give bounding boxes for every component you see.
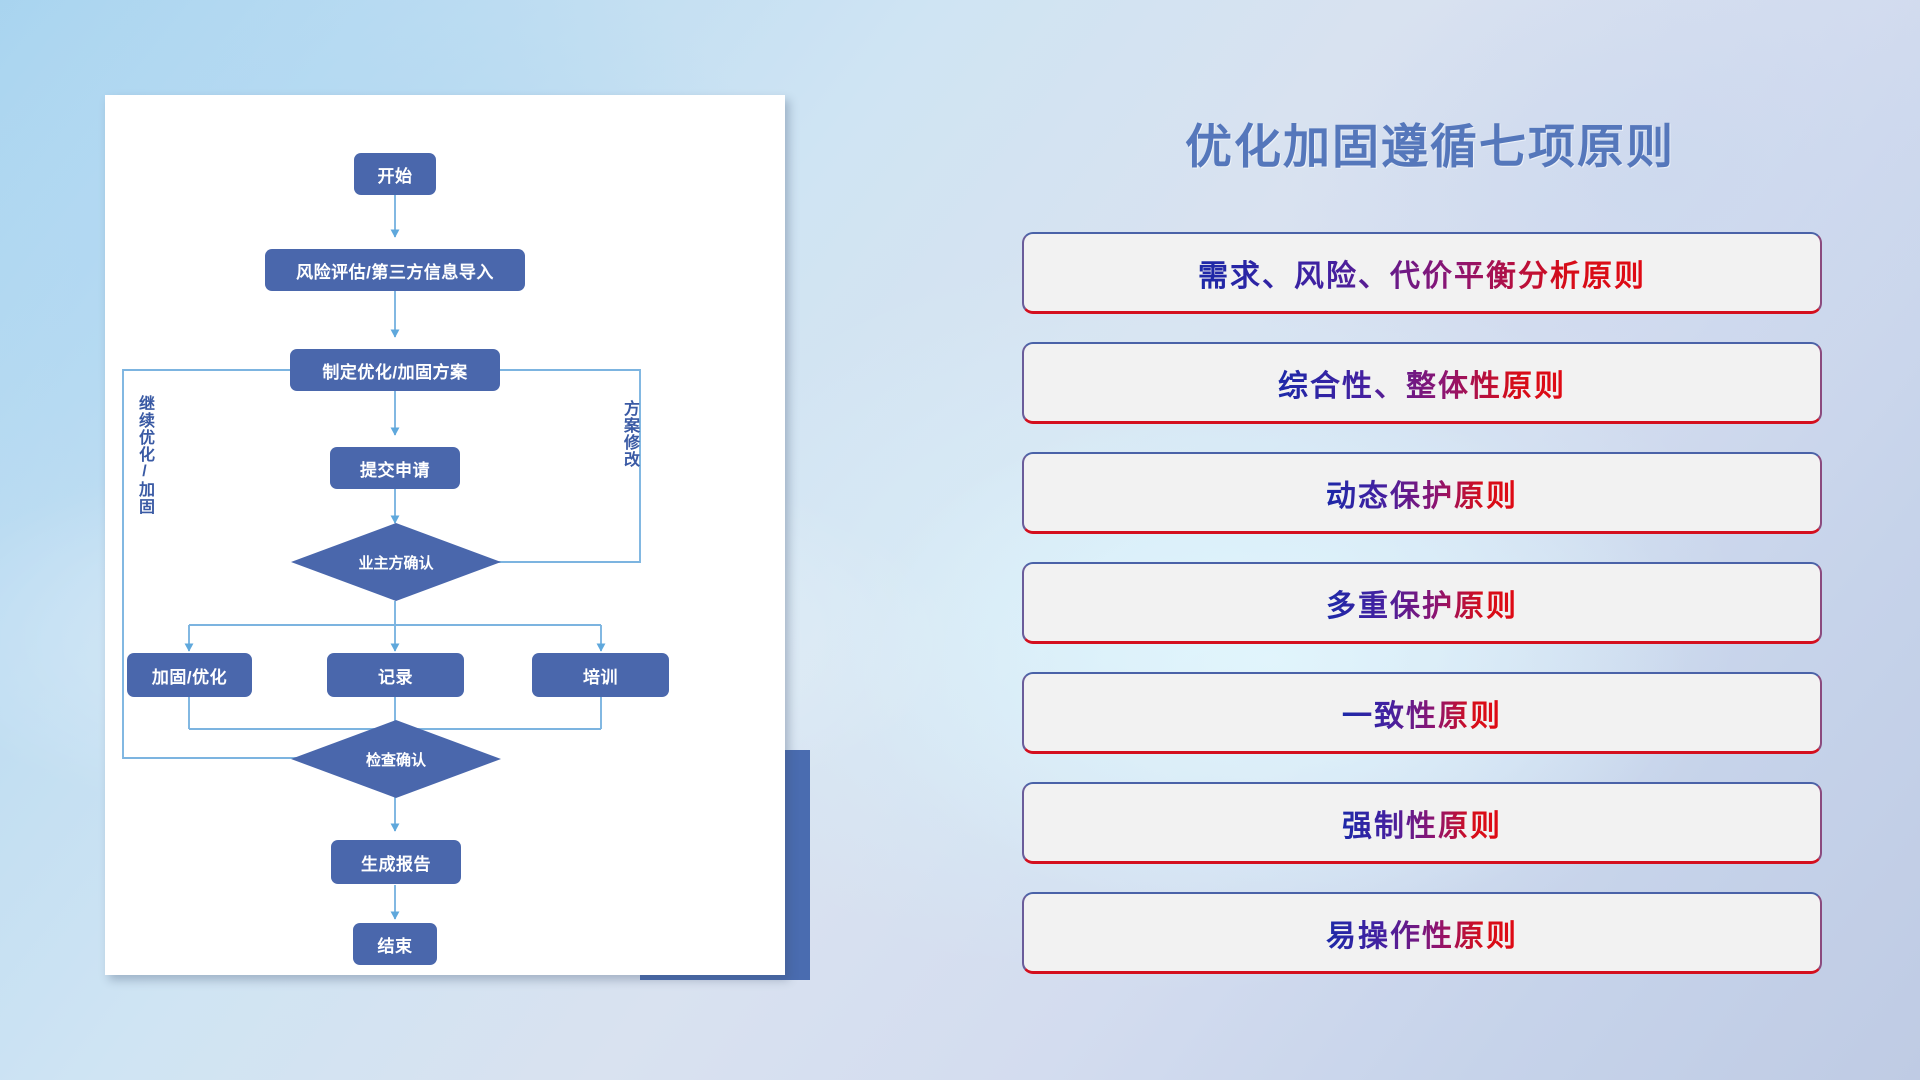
principle-item[interactable]: 综合性、整体性原则 [1022, 342, 1822, 424]
principle-label: 需求、风险、代价平衡分析原则 [1198, 251, 1646, 295]
flow-node-label: 开始 [378, 162, 413, 187]
flow-node-label: 记录 [378, 663, 413, 688]
flow-node-label: 制定优化/加固方案 [322, 358, 467, 383]
flow-node-start[interactable]: 开始 [354, 153, 436, 195]
flow-node-generate-report[interactable]: 生成报告 [331, 840, 461, 884]
slide-root: 开始 风险评估/第三方信息导入 制定优化/加固方案 提交申请 业主方确认 加固/… [0, 0, 1920, 1080]
flow-node-submit-application[interactable]: 提交申请 [330, 447, 460, 489]
principle-label: 动态保护原则 [1326, 471, 1518, 515]
flow-node-label: 风险评估/第三方信息导入 [296, 258, 494, 283]
flow-node-record[interactable]: 记录 [327, 653, 464, 697]
principle-item[interactable]: 多重保护原则 [1022, 562, 1822, 644]
flow-node-plan[interactable]: 制定优化/加固方案 [290, 349, 500, 391]
flow-node-training[interactable]: 培训 [532, 653, 669, 697]
flow-node-label: 检查确认 [366, 749, 426, 770]
flow-node-label: 加固/优化 [152, 663, 227, 688]
flow-decision-inspection-confirm[interactable]: 检查确认 [291, 720, 501, 798]
flow-node-reinforce-optimize[interactable]: 加固/优化 [127, 653, 252, 697]
flow-node-end[interactable]: 结束 [353, 923, 437, 965]
principle-item[interactable]: 强制性原则 [1022, 782, 1822, 864]
flow-node-label: 生成报告 [361, 850, 431, 875]
flow-edge-label-plan-revision: 方案修改 [617, 400, 641, 468]
principle-label: 多重保护原则 [1326, 581, 1518, 625]
principle-item[interactable]: 易操作性原则 [1022, 892, 1822, 974]
principle-item[interactable]: 需求、风险、代价平衡分析原则 [1022, 232, 1822, 314]
flow-node-label: 培训 [583, 663, 618, 688]
principle-label: 综合性、整体性原则 [1278, 361, 1566, 405]
principle-item[interactable]: 动态保护原则 [1022, 452, 1822, 534]
principle-label: 一致性原则 [1342, 691, 1502, 735]
flow-edge-label-continue-optimize: 继续优化/加固 [132, 395, 156, 515]
flow-node-risk-assessment[interactable]: 风险评估/第三方信息导入 [265, 249, 525, 291]
flowchart-card: 开始 风险评估/第三方信息导入 制定优化/加固方案 提交申请 业主方确认 加固/… [105, 95, 785, 975]
flowchart-nodes: 开始 风险评估/第三方信息导入 制定优化/加固方案 提交申请 业主方确认 加固/… [105, 95, 785, 975]
page-title: 优化加固遵循七项原则 [1020, 108, 1840, 177]
flow-node-label: 结束 [378, 932, 413, 957]
principle-label: 强制性原则 [1342, 801, 1502, 845]
principle-item[interactable]: 一致性原则 [1022, 672, 1822, 754]
flow-decision-owner-confirm[interactable]: 业主方确认 [291, 523, 501, 601]
flow-node-label: 业主方确认 [358, 552, 433, 573]
principle-label: 易操作性原则 [1326, 911, 1518, 955]
flow-node-label: 提交申请 [360, 456, 430, 481]
principles-list: 需求、风险、代价平衡分析原则 综合性、整体性原则 动态保护原则 多重保护原则 一… [1022, 232, 1822, 1002]
